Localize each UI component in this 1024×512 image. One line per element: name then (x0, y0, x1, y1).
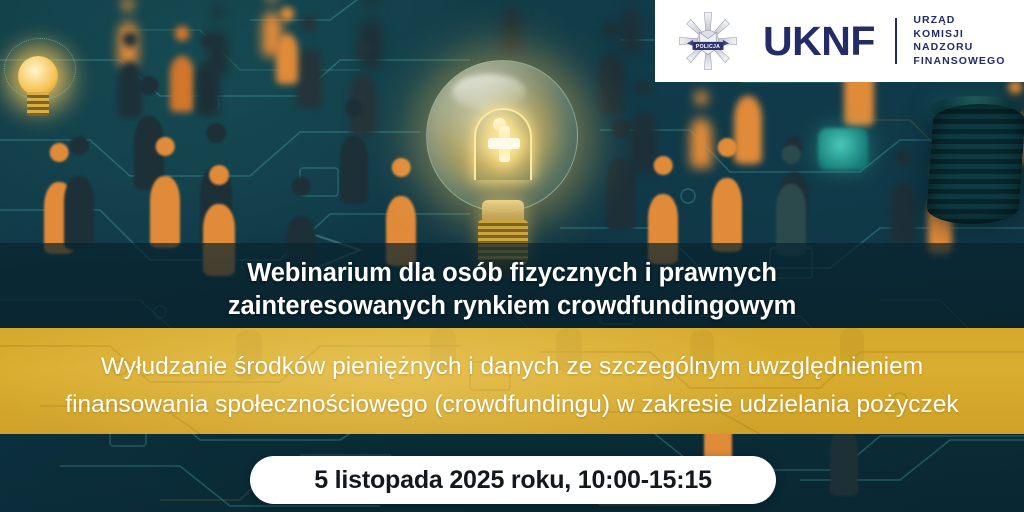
figurine (340, 136, 368, 204)
policja-emblem-icon: POLICJA (677, 10, 739, 72)
subtitle-line-1: Wyłudzanie środków pieniężnych i danych … (0, 348, 1024, 386)
date-pill-label: 5 listopada 2025 roku, 10:00-15:15 (314, 466, 712, 495)
filament-figure-icon (488, 126, 520, 162)
figurine (150, 176, 180, 248)
full-name-line-1: URZĄD (913, 14, 1005, 28)
figurine (630, 112, 656, 174)
page-title: Webinarium dla osób fizycznych i prawnyc… (0, 257, 1024, 323)
figurine (606, 158, 636, 230)
subtitle-line-2: finansowania społecznościowego (crowdfun… (0, 386, 1024, 424)
figurine (196, 62, 220, 116)
figurine (620, 10, 640, 54)
full-name-line-2: KOMISJI (913, 28, 1005, 42)
title-line-2: zainteresowanych rynkiem crowdfundingowy… (0, 290, 1024, 323)
logo-divider (895, 18, 898, 64)
date-pill: 5 listopada 2025 roku, 10:00-15:15 (250, 456, 776, 504)
uknf-full-name: URZĄD KOMISJI NADZORU FINANSOWEGO (913, 14, 1005, 68)
bulb-neck (482, 200, 524, 222)
figurine (118, 62, 142, 118)
figurine (170, 56, 194, 112)
figurine (296, 48, 322, 108)
logo-lockup: POLICJA UKNF URZĄD KOMISJI NADZORU FINAN… (655, 0, 1024, 82)
figurine (64, 176, 94, 250)
figurine (830, 428, 858, 496)
webinar-banner: Webinarium dla osób fizycznych i prawnyc… (0, 0, 1024, 512)
bulb-highlight (452, 74, 526, 110)
small-lightbulb (8, 48, 70, 126)
figurine (712, 178, 742, 252)
uknf-acronym: UKNF (763, 21, 875, 62)
full-name-line-4: FINANSOWEGO (913, 55, 1005, 69)
subtitle: Wyłudzanie środków pieniężnych i danych … (0, 348, 1024, 424)
figurine (690, 118, 712, 168)
figurine (734, 96, 762, 164)
subtitle-band: Wyłudzanie środków pieniężnych i danych … (0, 328, 1024, 434)
svg-text:POLICJA: POLICJA (696, 44, 720, 50)
figurine (890, 182, 916, 244)
chip-stack (926, 104, 1024, 224)
title-line-1: Webinarium dla osób fizycznych i prawnyc… (0, 257, 1024, 290)
title-band: Webinarium dla osób fizycznych i prawnyc… (0, 243, 1024, 328)
figurine (276, 34, 298, 84)
circuit-chip (818, 128, 868, 170)
full-name-line-3: NADZORU (913, 41, 1005, 55)
